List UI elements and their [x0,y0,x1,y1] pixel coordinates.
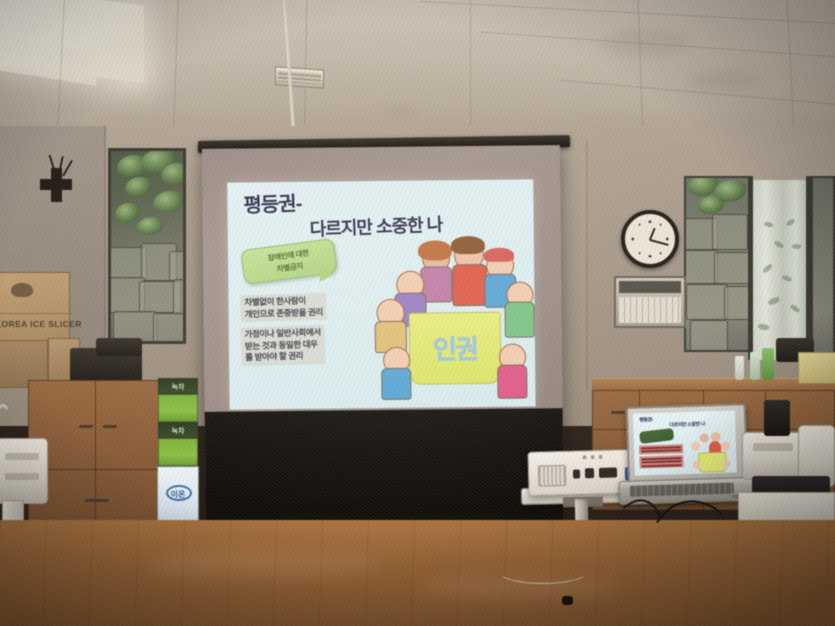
cabinet-drawer-handle[interactable] [85,499,109,502]
projector-button[interactable] [591,455,595,459]
package-label: 이온 [158,489,198,500]
projector-port [599,467,617,477]
ceiling-stain [690,70,760,90]
package-green-1 [158,394,198,422]
wall-notice-board [614,276,686,328]
child-body [381,368,411,400]
stone-block [173,279,186,315]
bed-rail-left [0,438,48,504]
notice-board-header [619,281,681,293]
laptop-slide-text-2 [639,455,683,469]
box-label: KOREA ICE SLICER [0,319,82,329]
projection-screen: 평등권- 다르지만 소중한 나 장애인에 대한 차별금지 차별없이 한사람이 개… [202,145,564,559]
ceiling-stain [380,105,420,117]
cup-white [735,356,744,380]
laptop-lid: 평등권- 다르지만 소중한 나 [626,403,749,489]
stone-block [690,320,728,352]
package-dark-1: 녹차 [158,378,198,394]
curtain-pattern-leaf [792,243,802,249]
cabinet-handle[interactable] [79,425,93,428]
ceiling-cord [283,0,295,128]
projector-vent [538,465,567,487]
cable-plug [562,596,573,605]
callout-tail [320,269,335,283]
stone-block [153,313,186,344]
cabinet-handle[interactable] [103,425,117,428]
projector-port [585,468,594,478]
stone-block [724,286,750,320]
cabinet-drawer-seam [29,469,161,470]
child-body [452,264,487,306]
wall-clock [621,210,679,268]
projector-button[interactable] [599,455,603,459]
laptop-slide-title-line2: 다르지만 소중한 나 [669,420,705,428]
foliage [153,191,183,213]
slide-title-line1: 평등권- [243,187,302,218]
child-head [691,442,700,451]
banner-text: 인권 [410,329,500,367]
curtain-pattern-leaf [785,219,795,227]
child-body [497,364,527,398]
bed-rail-slot [5,473,39,480]
window-right-far [811,176,835,356]
bottle-green [762,348,774,380]
package-green-2 [158,438,198,466]
box-flap-line [0,313,71,314]
laptop-slide-title-line1: 평등권- [639,416,653,423]
wall-seam [586,140,588,390]
curtain-pattern-leaf [757,322,769,331]
window-mullion [748,176,753,360]
curtain-pattern-leaf [774,239,785,249]
ceiling-tile-seam [420,1,835,24]
child-hair [451,236,485,254]
dark-equipment-lid [96,338,142,356]
person-silhouette [764,400,790,436]
foliage [698,196,724,214]
cabinet-door-seam [95,381,96,531]
child-hair [418,240,452,260]
projected-slide: 평등권- 다르지만 소중한 나 장애인에 대한 차별금지 차별없이 한사람이 개… [227,179,535,409]
curtain-pattern-leaf [790,303,801,314]
slide-title-line2: 다르지만 소중한 나 [309,211,442,242]
ceiling-tile-seam [470,0,471,140]
photo-scene: 평등권- 다르지만 소중한 나 장애인에 대한 차별금지 차별없이 한사람이 개… [0,0,835,626]
projector-button[interactable] [583,455,587,459]
stone-block [712,214,748,250]
laptop-keyboard[interactable] [630,483,734,497]
laptop-slide-illustration [690,433,733,472]
laptop-slide-text-1 [639,444,683,454]
power-cable-white [496,556,590,584]
foliage [125,177,151,197]
ceiling-tile-seam [638,0,644,135]
box-yellow-right [798,352,835,384]
package-dark-2: 녹차 [158,422,198,438]
cross-horizontal [40,179,72,190]
curtain-pattern-leaf [781,274,792,283]
window-right-outer [684,176,750,352]
curtain-pattern-leaf [762,263,774,273]
ceiling-stain [600,30,690,56]
laptop-screen: 평등권- 다르지만 소중한 나 [633,410,737,475]
bed-rail-right-head [742,432,806,480]
floor-reflection [150,550,380,578]
stone-block [714,252,750,284]
curtain-pattern-leaf [763,220,773,228]
notice-board-grid [619,297,681,323]
slide-text-block-1: 차별없이 한사람이 개인으로 존중받을 권리 [240,293,327,323]
slide-text-block-2: 가정이나 일반사회에서 받는 것과 동일한 대우 를 받아야 할 권리 [240,325,325,366]
child-hair [484,248,514,262]
foliage [115,203,139,223]
bed-rail-slot [5,453,39,460]
box-logo [11,283,33,297]
stone-block [684,250,718,284]
stone-block [169,251,186,281]
child-head [721,442,730,451]
window-left [108,148,186,344]
window-curtain [752,180,808,360]
ceiling-vent [275,66,324,88]
slide-banner: 인권 [409,312,502,385]
package-white: 이온 [157,466,199,524]
projector-port [573,469,580,478]
stone-block [686,284,728,320]
laptop-slide-callout [639,428,674,444]
clock-face-markings [629,218,671,260]
foliage [137,217,163,235]
child-head [722,460,730,468]
curtain-pattern-leaf [767,297,780,306]
package-label: 녹차 [159,382,197,392]
bottle-clear [750,352,760,380]
foliage [161,163,186,185]
cabinet-handle[interactable] [611,411,625,414]
child-body [504,301,534,337]
wall-cross-ornament [40,168,72,202]
package-label: 녹차 [159,426,197,436]
bed-rail-slot [753,443,793,451]
slide-illustration-children: 인권 [378,239,530,401]
child-head [700,433,709,442]
